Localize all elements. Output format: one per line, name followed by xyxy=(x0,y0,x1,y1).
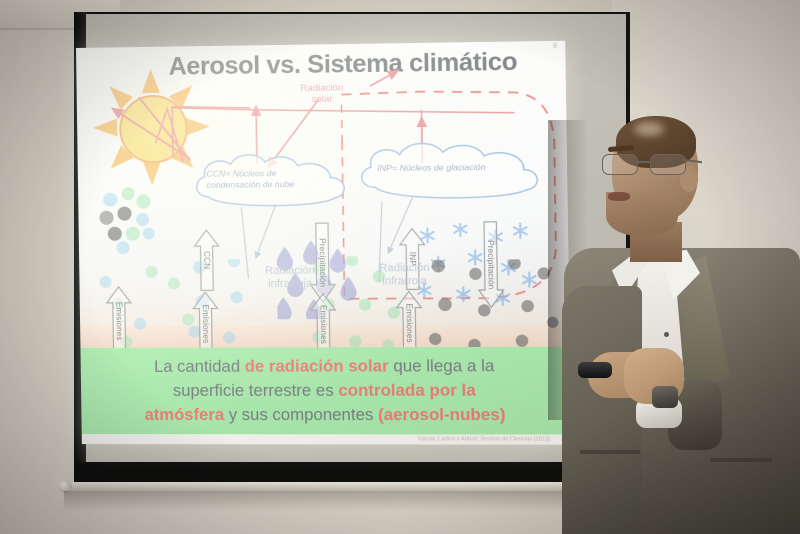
arrow-emisiones-left: Emisiones xyxy=(106,286,133,356)
roller-shadow xyxy=(64,491,634,511)
ccn-cloud: CCN= Núcleos de condensación de nube xyxy=(188,149,362,213)
arrow-precipitacion-right: Precipitación xyxy=(477,221,505,309)
jacket-pocket-left xyxy=(580,450,640,454)
glasses-icon xyxy=(602,154,700,174)
conclusion-line-1: La cantidad de radiación solar que llega… xyxy=(154,354,495,379)
presenter-mouth xyxy=(608,192,630,201)
hair-highlight xyxy=(634,122,664,136)
arrow-label: Emisiones xyxy=(404,303,414,342)
solar-radiation-label: Radiación solar xyxy=(276,82,368,105)
presenter-hands xyxy=(572,346,692,430)
photo-scene: 8 Aerosol vs. Sistema climático xyxy=(0,0,800,534)
conclusion-line-3: atmósfera y sus componentes (aerosol-nub… xyxy=(144,403,505,427)
slide-citation: Yakobi, Ladino y Abbatt, Revista de Cien… xyxy=(82,436,572,443)
ccn-cloud-label-line2: condensación de nube xyxy=(207,178,349,190)
arrow-ccn: CCN xyxy=(193,229,220,291)
projected-slide: 8 Aerosol vs. Sistema climático xyxy=(76,41,571,445)
conclusion-line-2: superficie terrestre es controlada por l… xyxy=(173,378,476,403)
arrow-label: Precipitación xyxy=(486,240,496,289)
presentation-clicker[interactable] xyxy=(578,362,612,378)
arrow-emisiones-mid: Emisiones xyxy=(192,291,219,355)
arrow-label: CCN xyxy=(202,251,211,269)
arrow-emisiones-right: Emisiones xyxy=(395,290,423,355)
conclusion-box: La cantidad de radiación solar que llega… xyxy=(80,347,571,435)
screen-bottom-frame xyxy=(74,462,630,484)
presenter xyxy=(560,118,800,534)
arrow-label: Emisiones xyxy=(114,301,124,340)
inp-cloud-label-line1: INP= Núcleos de glaciación xyxy=(377,161,547,174)
arrow-label: Emisiones xyxy=(201,304,211,343)
jacket-pocket-right xyxy=(710,458,772,462)
wristwatch xyxy=(652,386,678,408)
shirt-button xyxy=(664,332,669,337)
infrared-label-left: Radiación infrarroja xyxy=(254,265,326,292)
screen-roller-bar xyxy=(60,482,640,491)
infrared-label-right: Radiación infrarroja xyxy=(368,262,440,289)
arrow-emisiones-center: Emisiones xyxy=(310,293,337,356)
aerosol-cluster-left xyxy=(98,185,179,256)
arrow-label: Emisiones xyxy=(319,305,329,344)
inp-cloud: INP= Núcleos de glaciación xyxy=(352,139,555,204)
